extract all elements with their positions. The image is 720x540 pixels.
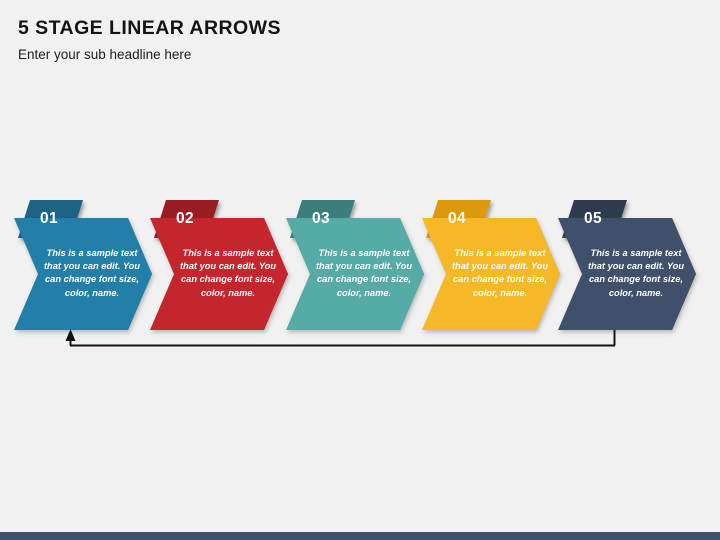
stage-02-chevron [150, 218, 288, 330]
stage-03-chevron [286, 218, 424, 330]
stage-01-group[interactable] [14, 200, 152, 330]
process-diagram: 01 02 03 04 05 This is a sample text tha… [0, 196, 720, 361]
connector-bracket [66, 329, 616, 346]
stage-01-chevron [14, 218, 152, 330]
connector-arrowhead-up-icon [66, 329, 76, 341]
stage-02-group[interactable] [150, 200, 288, 330]
stage-04-group[interactable] [422, 200, 560, 330]
slide-header: 5 STAGE LINEAR ARROWS Enter your sub hea… [18, 16, 668, 65]
page-title: 5 STAGE LINEAR ARROWS [18, 16, 668, 40]
stage-03-group[interactable] [286, 200, 424, 330]
stage-05-group[interactable] [558, 200, 696, 330]
stage-05-chevron [558, 218, 696, 330]
footer-accent-bar [0, 532, 720, 540]
arrow-chevrons-svg [0, 196, 720, 361]
stage-04-chevron [422, 218, 560, 330]
slide-canvas: 5 STAGE LINEAR ARROWS Enter your sub hea… [0, 0, 720, 540]
page-subtitle: Enter your sub headline here [18, 45, 668, 65]
